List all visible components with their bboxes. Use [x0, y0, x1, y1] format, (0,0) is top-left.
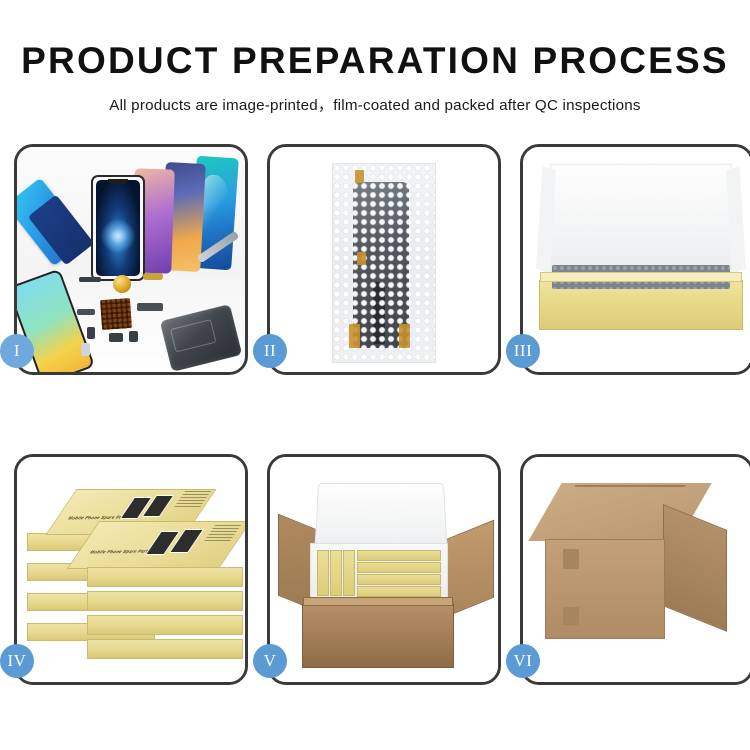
box-edge-5	[87, 567, 243, 587]
small-part-3	[109, 333, 123, 342]
inner-box-4	[357, 550, 441, 561]
flex-cable	[77, 309, 95, 315]
inner-box-2	[330, 550, 342, 596]
step-badge-3: III	[506, 334, 540, 368]
inner-box-5	[357, 562, 441, 573]
carton-body	[302, 604, 454, 668]
panel-6-image	[523, 457, 750, 682]
foam-box-body	[310, 543, 448, 601]
tray-lip	[540, 272, 742, 282]
panel-2-image	[270, 147, 498, 372]
small-part-5	[81, 343, 90, 356]
flex-cable-gold	[143, 273, 163, 280]
inner-box-1	[317, 550, 329, 596]
carton-side-face	[663, 504, 727, 632]
header: PRODUCT PREPARATION PROCESS All products…	[0, 0, 750, 115]
tape-piece-1	[355, 170, 364, 183]
flex-cable-2	[137, 303, 163, 311]
step-badge-4: IV	[0, 644, 34, 678]
screw-grid-part	[100, 298, 132, 330]
box-tray-yellow	[539, 280, 743, 330]
phone-front-screen	[91, 175, 145, 281]
process-panel-6: VI	[520, 454, 750, 685]
small-part-4	[129, 331, 138, 342]
inner-box-7	[357, 586, 441, 597]
step-badge-1: I	[0, 334, 34, 368]
panel-5-image	[270, 457, 498, 682]
phone-chassis	[160, 304, 242, 372]
step-badge-2: II	[253, 334, 287, 368]
page-subtitle: All products are image-printed，film-coat…	[0, 93, 750, 115]
poster-root: PRODUCT PREPARATION PROCESS All products…	[0, 0, 750, 750]
panel-4-image: Mobile Phone Spare Parts Mobile Phone Sp…	[17, 457, 245, 682]
step-badge-6: VI	[506, 644, 540, 678]
panel-1-image	[17, 147, 245, 372]
box-edge-8	[87, 639, 243, 659]
process-grid: I II	[14, 144, 750, 685]
box-edge-6	[87, 591, 243, 611]
process-panel-4: Mobile Phone Spare Parts Mobile Phone Sp…	[14, 454, 248, 685]
page-title: PRODUCT PREPARATION PROCESS	[0, 42, 750, 79]
small-part-2	[87, 327, 95, 339]
step-badge-5: V	[253, 644, 287, 678]
carton-tape-1	[563, 549, 579, 569]
process-panel-3: III	[520, 144, 750, 375]
tape-piece-2	[357, 252, 366, 265]
coil-part	[113, 275, 131, 293]
process-panel-5: V	[267, 454, 501, 685]
box-stack: Mobile Phone Spare Parts Mobile Phone Sp…	[27, 475, 241, 665]
carton-seam	[574, 485, 685, 487]
process-panel-1: I	[14, 144, 248, 375]
box-edge-7	[87, 615, 243, 635]
small-part	[79, 277, 101, 282]
panel-3-image	[523, 147, 750, 372]
inner-box-3	[343, 550, 355, 596]
tape-piece-3	[349, 324, 360, 348]
process-panel-2: II	[267, 144, 501, 375]
inner-box-6	[357, 574, 441, 585]
bubble-wrap-bag	[332, 163, 436, 363]
tape-piece-4	[399, 324, 410, 348]
carton-tape-2	[563, 607, 579, 625]
